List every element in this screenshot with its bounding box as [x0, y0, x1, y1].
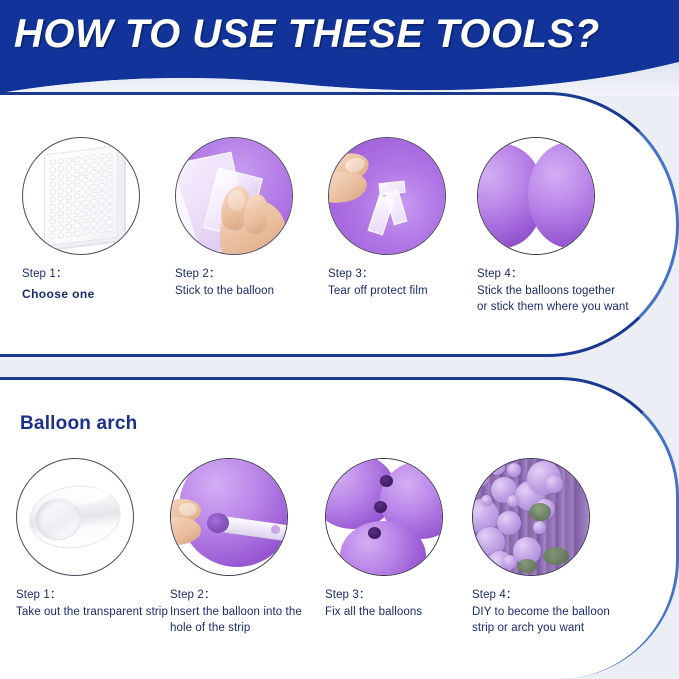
page-header: HOW TO USE THESE TOOLS?: [0, 0, 679, 96]
balloon-knot: [380, 475, 393, 487]
balloon-knot: [374, 501, 387, 513]
step-head: Step 3：: [328, 266, 478, 283]
finger-nail: [179, 503, 197, 516]
step-caption: Step 1： Take out the transparent strip: [16, 587, 191, 620]
foliage: [529, 503, 551, 521]
panel-balloon-arch: Balloon arch Step 1： Take out the transp…: [0, 377, 679, 679]
step-item: Step 1： Take out the transparent strip: [16, 458, 166, 620]
peeling-protect-film-illustration: [328, 137, 446, 255]
step-item: Step 3： Tear off protect film: [328, 137, 478, 299]
step-head: Step 1：: [16, 587, 191, 604]
step-item: Step 2： Stick to the balloon: [175, 137, 325, 299]
step-item: Step 4： DIY to become the balloon strip …: [472, 458, 652, 637]
step-body: Tear off protect film: [328, 283, 478, 300]
step-head: Step 4：: [477, 266, 662, 283]
step-item: Step 4： Stick the balloons together or s…: [477, 137, 662, 316]
step-caption: Step 1： Choose one: [22, 266, 172, 303]
glue-dot-grid: [49, 152, 113, 240]
step-head: Step 3：: [325, 587, 475, 604]
step-body: Stick the balloons together or stick the…: [477, 283, 662, 316]
balloon-knot: [368, 527, 381, 539]
step-caption: Step 3： Tear off protect film: [328, 266, 478, 299]
step-head: Step 1：: [22, 266, 172, 283]
hand-sticking-film-illustration: [175, 137, 293, 255]
two-balloons-illustration: [477, 137, 595, 255]
step-body: Choose one: [22, 286, 172, 303]
step-body: Insert the balloon into the hole of the …: [170, 604, 335, 637]
step-caption: Step 2： Stick to the balloon: [175, 266, 325, 299]
step-body: Fix all the balloons: [325, 604, 475, 621]
balloon-right: [528, 142, 595, 248]
three-balloons-fixed-illustration: [325, 458, 443, 576]
step-head: Step 2：: [175, 266, 325, 283]
foliage: [517, 559, 537, 573]
step-body: Stick to the balloon: [175, 283, 325, 300]
balloon-knot: [207, 513, 229, 533]
step-item: Step 3： Fix all the balloons: [325, 458, 475, 620]
finished-balloon-arch-illustration: [472, 458, 590, 576]
step-caption: Step 2： Insert the balloon into the hole…: [170, 587, 335, 637]
panel-balloon-glue-dots: Step 1： Choose one Step 2： Stick to the …: [0, 92, 679, 357]
step-item: Step 1： Choose one: [22, 137, 172, 303]
transparent-tape-roll-illustration: [16, 458, 134, 576]
foliage: [543, 547, 569, 565]
glue-dot-sheet-illustration: [22, 137, 140, 255]
step-caption: Step 4： Stick the balloons together or s…: [477, 266, 662, 316]
page-title: HOW TO USE THESE TOOLS?: [14, 12, 674, 57]
step-body: DIY to become the balloon strip or arch …: [472, 604, 650, 637]
insert-balloon-into-strip-illustration: [170, 458, 288, 576]
thumb-nail: [228, 190, 245, 211]
step-head: Step 2：: [170, 587, 335, 604]
step-body: Take out the transparent strip: [16, 604, 191, 621]
step-item: Step 2： Insert the balloon into the hole…: [170, 458, 320, 637]
step-caption: Step 3： Fix all the balloons: [325, 587, 475, 620]
section-title-balloon-arch: Balloon arch: [20, 413, 137, 435]
step-caption: Step 4： DIY to become the balloon strip …: [472, 587, 650, 637]
step-head: Step 4：: [472, 587, 650, 604]
